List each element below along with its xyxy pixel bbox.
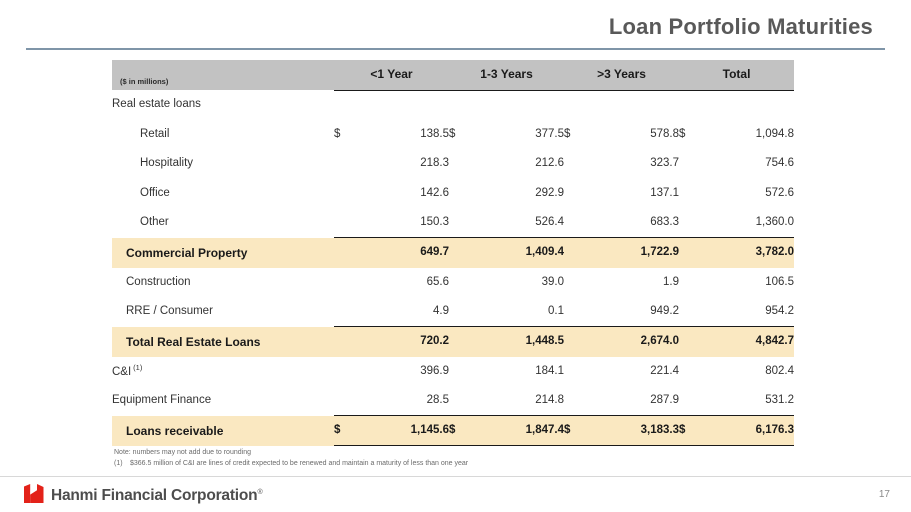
- table-row: Other150.3526.4683.31,360.0: [112, 208, 794, 238]
- currency-symbol-cell: $: [564, 416, 590, 446]
- rounding-note: Note: numbers may not add due to roundin…: [114, 448, 468, 459]
- cell-value: 4.9: [360, 297, 449, 327]
- row-label-text: Equipment Finance: [112, 394, 211, 406]
- currency-symbol-cell: [564, 386, 590, 416]
- cell-value-text: 754.6: [765, 157, 794, 169]
- cell-value: 218.3: [360, 149, 449, 179]
- cell-value: 1,448.5: [475, 327, 564, 357]
- currency-symbol-cell: [449, 238, 475, 268]
- cell-value: [590, 90, 679, 120]
- cell-value-text: 106.5: [765, 276, 794, 288]
- currency-symbol-cell: [334, 149, 360, 179]
- cell-value: 954.2: [705, 297, 794, 327]
- cell-value-text: 1,847.4: [526, 424, 564, 436]
- currency-symbol-cell: [449, 327, 475, 357]
- currency-symbol-cell: $: [679, 120, 705, 150]
- cell-value: 683.3: [590, 208, 679, 238]
- hanmi-mark-icon: [24, 484, 45, 508]
- row-label: Construction: [112, 268, 334, 298]
- currency-symbol-cell: [449, 386, 475, 416]
- currency-symbol-cell: [679, 149, 705, 179]
- cell-value: 377.5: [475, 120, 564, 150]
- row-label-text: C&I: [112, 366, 131, 378]
- currency-symbol: $: [449, 424, 455, 436]
- currency-symbol-cell: [679, 90, 705, 120]
- currency-symbol-cell: [564, 90, 590, 120]
- currency-symbol-cell: [679, 327, 705, 357]
- currency-symbol: $: [564, 128, 570, 140]
- currency-symbol: $: [334, 128, 340, 140]
- cell-value: 142.6: [360, 179, 449, 209]
- column-header-lt1year: <1 Year: [334, 60, 449, 90]
- currency-symbol-cell: [564, 297, 590, 327]
- cell-value-text: 150.3: [420, 216, 449, 228]
- currency-symbol: $: [679, 128, 685, 140]
- cell-value-text: 287.9: [650, 394, 679, 406]
- cell-value: 221.4: [590, 357, 679, 387]
- cell-value: 396.9: [360, 357, 449, 387]
- table-row: Real estate loans: [112, 90, 794, 120]
- cell-value: 949.2: [590, 297, 679, 327]
- currency-symbol-cell: $: [334, 416, 360, 446]
- cell-value: 1,145.6: [360, 416, 449, 446]
- cell-value-text: 323.7: [650, 157, 679, 169]
- cell-value: 28.5: [360, 386, 449, 416]
- currency-symbol-cell: [334, 179, 360, 209]
- cell-value: 531.2: [705, 386, 794, 416]
- table-row: Retail$138.5$377.5$578.8$1,094.8: [112, 120, 794, 150]
- company-name: Hanmi Financial Corporation®: [51, 487, 262, 505]
- loan-maturities-table-container: ($ in millions) <1 Year 1-3 Years >3 Yea…: [112, 60, 794, 446]
- currency-symbol-cell: [679, 268, 705, 298]
- row-label: Hospitality: [112, 149, 334, 179]
- cell-value-text: 949.2: [650, 305, 679, 317]
- units-label: ($ in millions): [112, 60, 334, 90]
- row-label-text: Loans receivable: [126, 424, 223, 438]
- table-row: RRE / Consumer4.90.1949.2954.2: [112, 297, 794, 327]
- cell-value-text: 649.7: [420, 246, 449, 258]
- cell-value-text: 578.8: [650, 128, 679, 140]
- row-label: Commercial Property: [112, 238, 334, 268]
- currency-symbol-cell: [334, 238, 360, 268]
- cell-value-text: 377.5: [535, 128, 564, 140]
- cell-value-text: 3,183.3: [641, 424, 679, 436]
- currency-symbol-cell: [679, 179, 705, 209]
- row-label: C&I(1): [112, 357, 334, 387]
- cell-value: 526.4: [475, 208, 564, 238]
- cell-value-text: 2,674.0: [641, 335, 679, 347]
- cell-value-text: 214.8: [535, 394, 564, 406]
- currency-symbol-cell: [449, 149, 475, 179]
- row-footnote-marker: (1): [133, 363, 142, 372]
- cell-value-text: 292.9: [535, 187, 564, 199]
- cell-value: 287.9: [590, 386, 679, 416]
- row-label: Other: [112, 208, 334, 238]
- row-label-text: Construction: [126, 276, 191, 288]
- table-row: Equipment Finance28.5214.8287.9531.2: [112, 386, 794, 416]
- cell-value-text: 28.5: [427, 394, 449, 406]
- column-header-total: Total: [679, 60, 794, 90]
- company-name-text: Hanmi Financial Corporation: [51, 487, 257, 504]
- cell-value: 214.8: [475, 386, 564, 416]
- table-notes: Note: numbers may not add due to roundin…: [114, 448, 468, 470]
- cell-value-text: 720.2: [420, 335, 449, 347]
- cell-value: 1.9: [590, 268, 679, 298]
- cell-value: 65.6: [360, 268, 449, 298]
- cell-value-text: 954.2: [765, 305, 794, 317]
- currency-symbol-cell: [679, 386, 705, 416]
- cell-value-text: 802.4: [765, 365, 794, 377]
- row-label-text: Real estate loans: [112, 98, 201, 110]
- table-header-row: ($ in millions) <1 Year 1-3 Years >3 Yea…: [112, 60, 794, 90]
- cell-value: 0.1: [475, 297, 564, 327]
- currency-symbol: $: [449, 128, 455, 140]
- cell-value-text: 137.1: [650, 187, 679, 199]
- cell-value-text: 1,409.4: [526, 246, 564, 258]
- footnote-text: $366.5 million of C&I are lines of credi…: [130, 460, 468, 467]
- cell-value-text: 6,176.3: [756, 424, 794, 436]
- currency-symbol-cell: [334, 386, 360, 416]
- currency-symbol-cell: [449, 90, 475, 120]
- cell-value: 39.0: [475, 268, 564, 298]
- row-label: RRE / Consumer: [112, 297, 334, 327]
- title-divider: [26, 48, 885, 50]
- cell-value: 572.6: [705, 179, 794, 209]
- page-number: 17: [879, 489, 890, 500]
- currency-symbol-cell: [334, 357, 360, 387]
- cell-value-text: 526.4: [535, 216, 564, 228]
- currency-symbol-cell: [564, 179, 590, 209]
- column-header-1to3years: 1-3 Years: [449, 60, 564, 90]
- cell-value: 1,722.9: [590, 238, 679, 268]
- cell-value-text: 683.3: [650, 216, 679, 228]
- row-label: Real estate loans: [112, 90, 334, 120]
- cell-value: 578.8: [590, 120, 679, 150]
- cell-value-text: 3,782.0: [756, 246, 794, 258]
- currency-symbol-cell: [679, 238, 705, 268]
- cell-value-text: 1,448.5: [526, 335, 564, 347]
- currency-symbol: $: [334, 424, 340, 436]
- row-label: Loans receivable: [112, 416, 334, 446]
- row-label-text: Commercial Property: [126, 246, 247, 260]
- currency-symbol-cell: [449, 357, 475, 387]
- page-title: Loan Portfolio Maturities: [609, 14, 873, 40]
- footnote-marker: (1): [114, 459, 130, 470]
- currency-symbol-cell: [564, 238, 590, 268]
- cell-value: 3,782.0: [705, 238, 794, 268]
- table-row: Construction65.639.01.9106.5: [112, 268, 794, 298]
- currency-symbol-cell: [564, 268, 590, 298]
- cell-value-text: 221.4: [650, 365, 679, 377]
- table-row: Hospitality218.3212.6323.7754.6: [112, 149, 794, 179]
- currency-symbol-cell: [334, 327, 360, 357]
- table-row-subtotal: Loans receivable$1,145.6$1,847.4$3,183.3…: [112, 416, 794, 446]
- cell-value: 2,674.0: [590, 327, 679, 357]
- row-label-text: RRE / Consumer: [126, 305, 213, 317]
- row-label-text: Hospitality: [140, 157, 193, 169]
- currency-symbol-cell: [564, 327, 590, 357]
- currency-symbol-cell: [679, 357, 705, 387]
- cell-value: 138.5: [360, 120, 449, 150]
- row-label: Office: [112, 179, 334, 209]
- currency-symbol-cell: $: [449, 120, 475, 150]
- row-label-text: Office: [140, 187, 170, 199]
- currency-symbol: $: [679, 424, 685, 436]
- cell-value-text: 212.6: [535, 157, 564, 169]
- cell-value: 212.6: [475, 149, 564, 179]
- table-row-subtotal: Commercial Property649.71,409.41,722.93,…: [112, 238, 794, 268]
- cell-value-text: 1.9: [663, 276, 679, 288]
- row-label-text: Retail: [140, 128, 169, 140]
- column-header-gt3years: >3 Years: [564, 60, 679, 90]
- row-label-text: Total Real Estate Loans: [126, 335, 260, 349]
- currency-symbol-cell: $: [564, 120, 590, 150]
- cell-value-text: 39.0: [542, 276, 564, 288]
- currency-symbol-cell: [334, 208, 360, 238]
- table-row-subtotal: Total Real Estate Loans720.21,448.52,674…: [112, 327, 794, 357]
- currency-symbol-cell: $: [449, 416, 475, 446]
- row-label: Total Real Estate Loans: [112, 327, 334, 357]
- company-logo: Hanmi Financial Corporation®: [24, 484, 262, 508]
- cell-value: 1,360.0: [705, 208, 794, 238]
- cell-value: 3,183.3: [590, 416, 679, 446]
- cell-value-text: 138.5: [420, 128, 449, 140]
- cell-value: 4,842.7: [705, 327, 794, 357]
- cell-value: 150.3: [360, 208, 449, 238]
- cell-value: 292.9: [475, 179, 564, 209]
- cell-value: 184.1: [475, 357, 564, 387]
- cell-value: 649.7: [360, 238, 449, 268]
- table-header: ($ in millions) <1 Year 1-3 Years >3 Yea…: [112, 60, 794, 90]
- cell-value-text: 572.6: [765, 187, 794, 199]
- footnote-1: (1)$366.5 million of C&I are lines of cr…: [114, 459, 468, 470]
- currency-symbol: $: [564, 424, 570, 436]
- currency-symbol-cell: [564, 208, 590, 238]
- cell-value: [360, 90, 449, 120]
- cell-value: [705, 90, 794, 120]
- cell-value-text: 531.2: [765, 394, 794, 406]
- cell-value-text: 396.9: [420, 365, 449, 377]
- row-label: Equipment Finance: [112, 386, 334, 416]
- currency-symbol-cell: [334, 268, 360, 298]
- cell-value: 1,847.4: [475, 416, 564, 446]
- loan-maturities-table: ($ in millions) <1 Year 1-3 Years >3 Yea…: [112, 60, 794, 446]
- currency-symbol-cell: $: [679, 416, 705, 446]
- table-row: C&I(1)396.9184.1221.4802.4: [112, 357, 794, 387]
- currency-symbol-cell: [679, 208, 705, 238]
- cell-value: 754.6: [705, 149, 794, 179]
- cell-value: 323.7: [590, 149, 679, 179]
- currency-symbol-cell: [334, 297, 360, 327]
- table-row: Office142.6292.9137.1572.6: [112, 179, 794, 209]
- currency-symbol-cell: [679, 297, 705, 327]
- row-label: Retail: [112, 120, 334, 150]
- cell-value-text: 1,145.6: [411, 424, 449, 436]
- cell-value-text: 0.1: [548, 305, 564, 317]
- currency-symbol-cell: [564, 357, 590, 387]
- cell-value-text: 4.9: [433, 305, 449, 317]
- currency-symbol-cell: [449, 179, 475, 209]
- currency-symbol-cell: [449, 268, 475, 298]
- cell-value-text: 1,722.9: [641, 246, 679, 258]
- cell-value: 106.5: [705, 268, 794, 298]
- cell-value: 1,094.8: [705, 120, 794, 150]
- currency-symbol-cell: $: [334, 120, 360, 150]
- cell-value: 720.2: [360, 327, 449, 357]
- cell-value-text: 65.6: [427, 276, 449, 288]
- cell-value: [475, 90, 564, 120]
- cell-value-text: 218.3: [420, 157, 449, 169]
- table-body: Real estate loansRetail$138.5$377.5$578.…: [112, 90, 794, 446]
- cell-value: 1,409.4: [475, 238, 564, 268]
- currency-symbol-cell: [564, 149, 590, 179]
- cell-value: 802.4: [705, 357, 794, 387]
- cell-value: 6,176.3: [705, 416, 794, 446]
- currency-symbol-cell: [334, 90, 360, 120]
- currency-symbol-cell: [449, 208, 475, 238]
- cell-value-text: 1,360.0: [756, 216, 794, 228]
- cell-value-text: 184.1: [535, 365, 564, 377]
- cell-value-text: 142.6: [420, 187, 449, 199]
- currency-symbol-cell: [449, 297, 475, 327]
- cell-value: 137.1: [590, 179, 679, 209]
- cell-value-text: 4,842.7: [756, 335, 794, 347]
- row-label-text: Other: [140, 216, 169, 228]
- cell-value-text: 1,094.8: [756, 128, 794, 140]
- trademark-symbol: ®: [257, 489, 262, 496]
